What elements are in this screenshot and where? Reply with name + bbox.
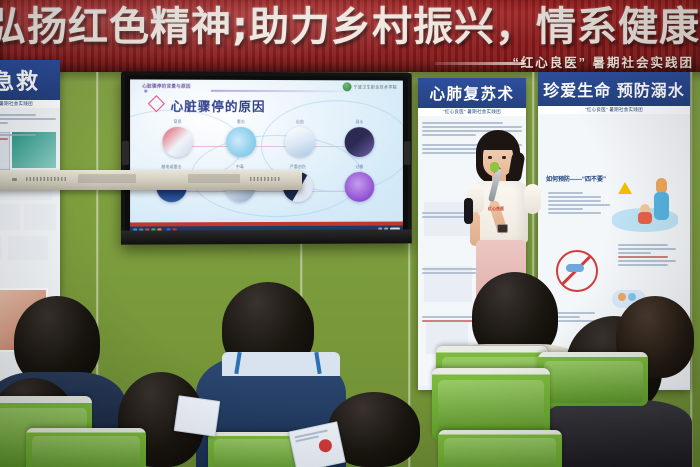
speaker-vent (250, 177, 280, 181)
whiteboard-lower-frame (121, 229, 412, 244)
slide-kicker-text: 心脏骤停的背景与原因 (142, 83, 190, 89)
chair-back (26, 428, 146, 467)
cause-label: 窒息 (160, 120, 194, 125)
illustration-step-2 (0, 204, 20, 230)
slide-title-text: 心脏骤停的原因 (171, 96, 266, 115)
university-emblem-icon (343, 82, 352, 91)
rollup-right-title: 珍爱生命 预防溺水 (538, 72, 690, 106)
shelf-panel (188, 174, 240, 183)
cause-image (226, 127, 256, 157)
booklet[interactable] (174, 395, 221, 436)
wall-seam (690, 68, 693, 467)
banner-main-text: 弘扬红色精神;助力乡村振兴，情系健康中国 (0, 1, 686, 53)
photo-first-aid-hands (12, 132, 56, 168)
booklet-logo-icon (318, 438, 333, 453)
illustration-no-swimming (546, 246, 606, 298)
cause-image (345, 172, 375, 202)
presenter-sleeve-right (524, 184, 541, 214)
presenter-wristwatch (497, 224, 508, 233)
slide-header-rule (211, 90, 361, 93)
power-indicator (12, 178, 17, 181)
cause-image (162, 127, 192, 157)
illustration-step-4 (0, 236, 2, 260)
cause-label: 雷击 (224, 120, 258, 125)
rollup-left-title: 伤急救 (0, 60, 60, 100)
illustration-step-3 (24, 204, 56, 230)
whiteboard-mount-shelf (0, 170, 302, 190)
slide-cause-row-1: 窒息 雷击 出血 溺水 (130, 120, 403, 162)
rollup-left-tag: “红心良医” 暑期社会实践团 (0, 100, 60, 108)
red-event-banner: 弘扬红色精神;助力乡村振兴，情系健康中国 “红心良医” 暑期社会实践团 (0, 0, 700, 72)
cause-image (285, 127, 315, 157)
rollup-mid-tag: “红心良医” 暑期社会实践团 (418, 108, 526, 116)
illustration-water-safety (612, 174, 684, 236)
chair-back (538, 352, 648, 406)
banner-subtitle-text: “红心良医” 暑期社会实践团 (513, 54, 694, 72)
bullet-dot-icon (144, 90, 147, 93)
shelf-panel (78, 174, 136, 183)
rollup-right-tag: “红心良医” 暑期社会实践团 (538, 106, 690, 114)
audience-shoulders (540, 400, 692, 467)
whiteboard-side-button-right[interactable] (404, 141, 411, 165)
banner-divider-rule (435, 62, 525, 65)
cause-label: 溺水 (343, 120, 377, 125)
rollup-right-subhead: 如何预防——“四不要” (546, 174, 606, 183)
illustration-step-5 (8, 236, 48, 260)
speaker-vent (26, 177, 68, 181)
cause-image (345, 127, 375, 157)
slide-university-logo: 宁波卫生职业技术学院 (343, 82, 397, 91)
whiteboard-side-button-left[interactable] (122, 141, 129, 165)
presentation-remote (464, 198, 473, 224)
microphone-head (490, 162, 499, 172)
presenter-fringe (479, 133, 517, 150)
cause-label: 过敏 (343, 165, 377, 170)
cause-label: 出血 (283, 120, 317, 125)
slide-logo-text: 宁波卫生职业技术学院 (354, 84, 397, 90)
interactive-whiteboard[interactable]: 心脏骤停的背景与原因 宁波卫生职业技术学院 心脏骤停的原因 窒息 雷击 (121, 71, 412, 244)
chair-back (438, 430, 562, 467)
rollup-mid-title: 心肺复苏术 (418, 78, 526, 108)
lecture-scene-photo: 弘扬红色精神;助力乡村振兴，情系健康中国 “红心良医” 暑期社会实践团 伤急救 … (0, 0, 700, 467)
whiteboard-screen[interactable]: 心脏骤停的背景与原因 宁波卫生职业技术学院 心脏骤停的原因 窒息 雷击 (130, 79, 403, 226)
